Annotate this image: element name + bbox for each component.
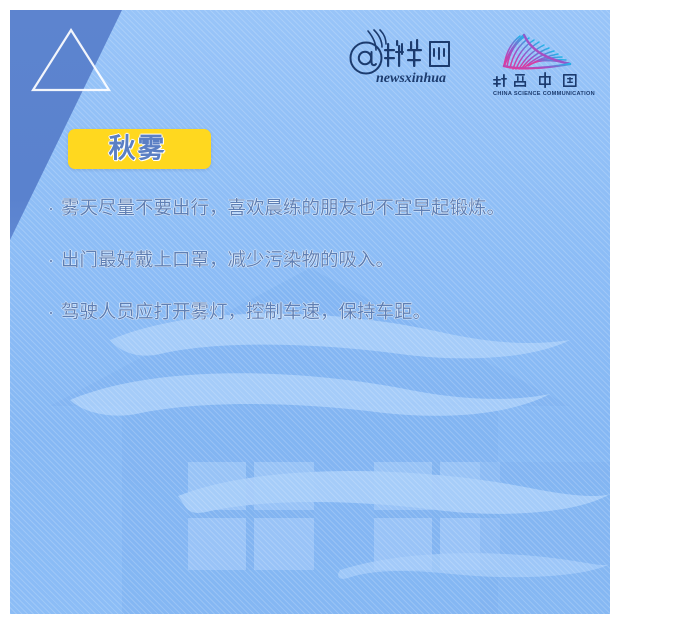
bullet-icon: · — [48, 303, 54, 321]
category-badge: 秋雾 — [68, 129, 211, 169]
kepuzhongguo-logo-en: CHINA SCIENCE COMMUNICATION — [493, 91, 595, 97]
poster-card: newsxinhua — [10, 10, 610, 614]
tip-text: 雾天尽量不要出行，喜欢晨练的朋友也不宜早起锻炼。 — [61, 196, 505, 221]
bullet-icon: · — [48, 251, 54, 269]
logo-group: newsxinhua — [346, 26, 598, 98]
tip-item: · 驾驶人员应打开雾灯，控制车速，保持车距。 — [48, 300, 588, 325]
kepuzhongguo-logo: CHINA SCIENCE COMMUNICATION — [490, 26, 598, 98]
tip-item: · 雾天尽量不要出行，喜欢晨练的朋友也不宜早起锻炼。 — [48, 196, 588, 221]
triangle-outline-icon — [28, 24, 114, 96]
tips-list: · 雾天尽量不要出行，喜欢晨练的朋友也不宜早起锻炼。 · 出门最好戴上口罩，减少… — [48, 196, 588, 352]
category-badge-label: 秋雾 — [68, 136, 207, 163]
tip-item: · 出门最好戴上口罩，减少污染物的吸入。 — [48, 248, 588, 273]
tip-text: 驾驶人员应打开雾灯，控制车速，保持车距。 — [61, 300, 431, 325]
bullet-icon: · — [48, 199, 54, 217]
xinhua-logo-en: newsxinhua — [376, 71, 446, 86]
xinhua-logo: newsxinhua — [346, 26, 468, 88]
tip-text: 出门最好戴上口罩，减少污染物的吸入。 — [61, 248, 394, 273]
